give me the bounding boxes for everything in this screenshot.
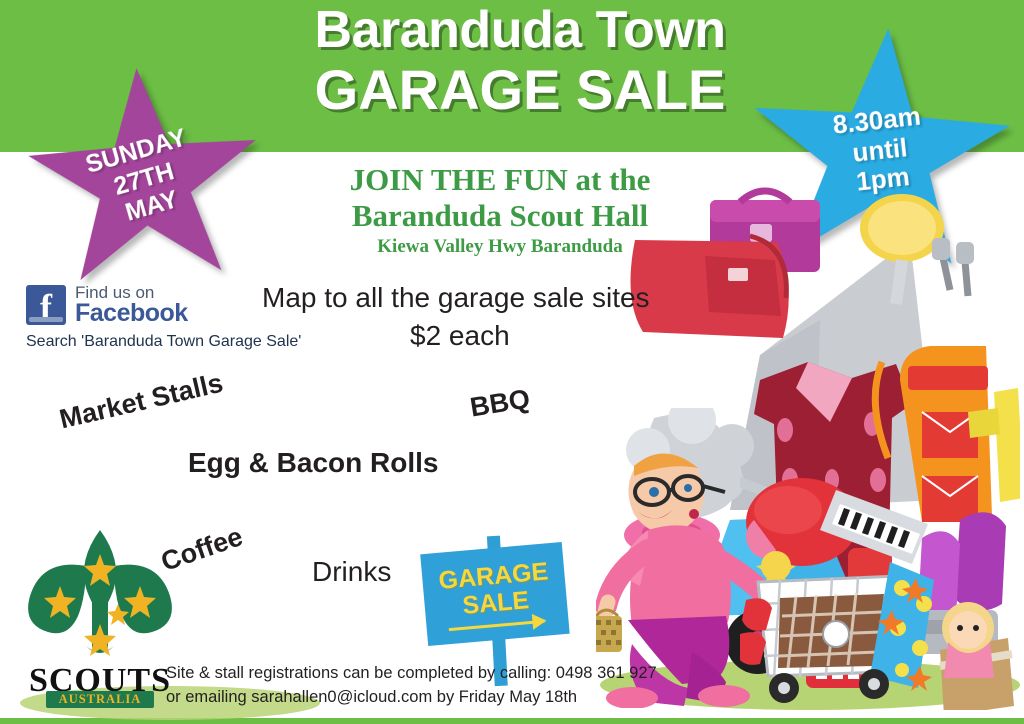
facebook-text: Find us on Facebook bbox=[75, 284, 188, 326]
registration-footer: Site & stall registrations can be comple… bbox=[166, 662, 657, 710]
shopping-trolley-illustration bbox=[740, 470, 940, 710]
footer-line-2: or emailing sarahallen0@icloud.com by Fr… bbox=[166, 686, 657, 710]
subhead-line-2: Baranduda Scout Hall bbox=[250, 198, 750, 234]
venue-subhead: JOIN THE FUN at the Baranduda Scout Hall… bbox=[250, 162, 750, 258]
drinks-label: Drinks bbox=[312, 556, 391, 588]
subhead-line-1: JOIN THE FUN at the bbox=[250, 162, 750, 198]
map-info-line: Map to all the garage sale sites bbox=[262, 282, 650, 314]
facebook-row[interactable]: f Find us on Facebook bbox=[26, 284, 301, 326]
facebook-brand: Facebook bbox=[75, 301, 188, 326]
facebook-icon-bar bbox=[29, 317, 63, 322]
facebook-search-text: Search 'Baranduda Town Garage Sale' bbox=[26, 333, 301, 351]
bbq-label: BBQ bbox=[468, 383, 532, 423]
sign-arrow-icon bbox=[449, 620, 545, 631]
scouts-fleur-de-lis-icon bbox=[24, 528, 176, 668]
sign-board: GARAGE SALE bbox=[420, 542, 569, 646]
footer-line-1: Site & stall registrations can be comple… bbox=[166, 662, 657, 686]
facebook-icon[interactable]: f bbox=[26, 285, 66, 325]
scouts-australia-label: AUSTRALIA bbox=[46, 691, 154, 708]
date-star: SUNDAY 27TH MAY bbox=[23, 60, 266, 291]
subhead-line-3: Kiewa Valley Hwy Baranduda bbox=[250, 236, 750, 258]
map-price-line: $2 each bbox=[410, 320, 510, 352]
market-stalls-label: Market Stalls bbox=[57, 368, 226, 436]
facebook-block[interactable]: f Find us on Facebook Search 'Baranduda … bbox=[26, 284, 301, 351]
scouts-australia-logo: SCOUTS AUSTRALIA bbox=[24, 528, 176, 708]
trolley-svg bbox=[740, 470, 940, 710]
garage-sale-poster: SUNDAY 27TH MAY 8.30am until 1pm Barandu… bbox=[0, 0, 1024, 724]
garage-sale-sign: GARAGE SALE bbox=[421, 532, 569, 657]
egg-bacon-rolls-label: Egg & Bacon Rolls bbox=[188, 447, 438, 479]
